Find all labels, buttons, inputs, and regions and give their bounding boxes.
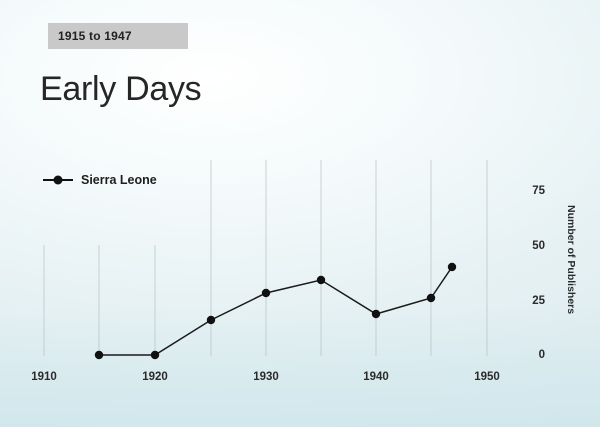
- x-axis-tick: 1940: [363, 371, 389, 383]
- y-axis-label: Number of Publishers: [565, 205, 577, 314]
- slide-canvas: 1915 to 1947 Early Days: [0, 0, 600, 427]
- data-point: [372, 310, 380, 318]
- series-sierra-leone: [95, 263, 456, 359]
- x-axis-tick: 1920: [142, 371, 168, 383]
- x-axis-tick: 1910: [31, 371, 57, 383]
- data-point: [427, 294, 435, 302]
- data-point: [262, 289, 270, 297]
- y-axis-tick: 50: [519, 240, 545, 252]
- chart-legend: Sierra Leone: [42, 173, 157, 187]
- x-axis-tick: 1950: [474, 371, 500, 383]
- y-axis-tick: 75: [519, 185, 545, 197]
- legend-label-sierra-leone: Sierra Leone: [81, 173, 157, 187]
- line-chart: [0, 0, 600, 427]
- data-point: [207, 316, 215, 324]
- legend-line-dot-icon: [42, 174, 74, 186]
- y-axis-tick: 0: [519, 349, 545, 361]
- data-point: [151, 351, 159, 359]
- data-point: [448, 263, 456, 271]
- data-point: [317, 276, 325, 284]
- x-axis-tick: 1930: [253, 371, 279, 383]
- data-point: [95, 351, 103, 359]
- gridlines: [44, 160, 487, 356]
- eyebrow-badge: 1915 to 1947: [48, 23, 188, 49]
- series-line-sierra-leone: [99, 267, 452, 355]
- y-axis-tick: 25: [519, 295, 545, 307]
- page-title: Early Days: [40, 70, 201, 109]
